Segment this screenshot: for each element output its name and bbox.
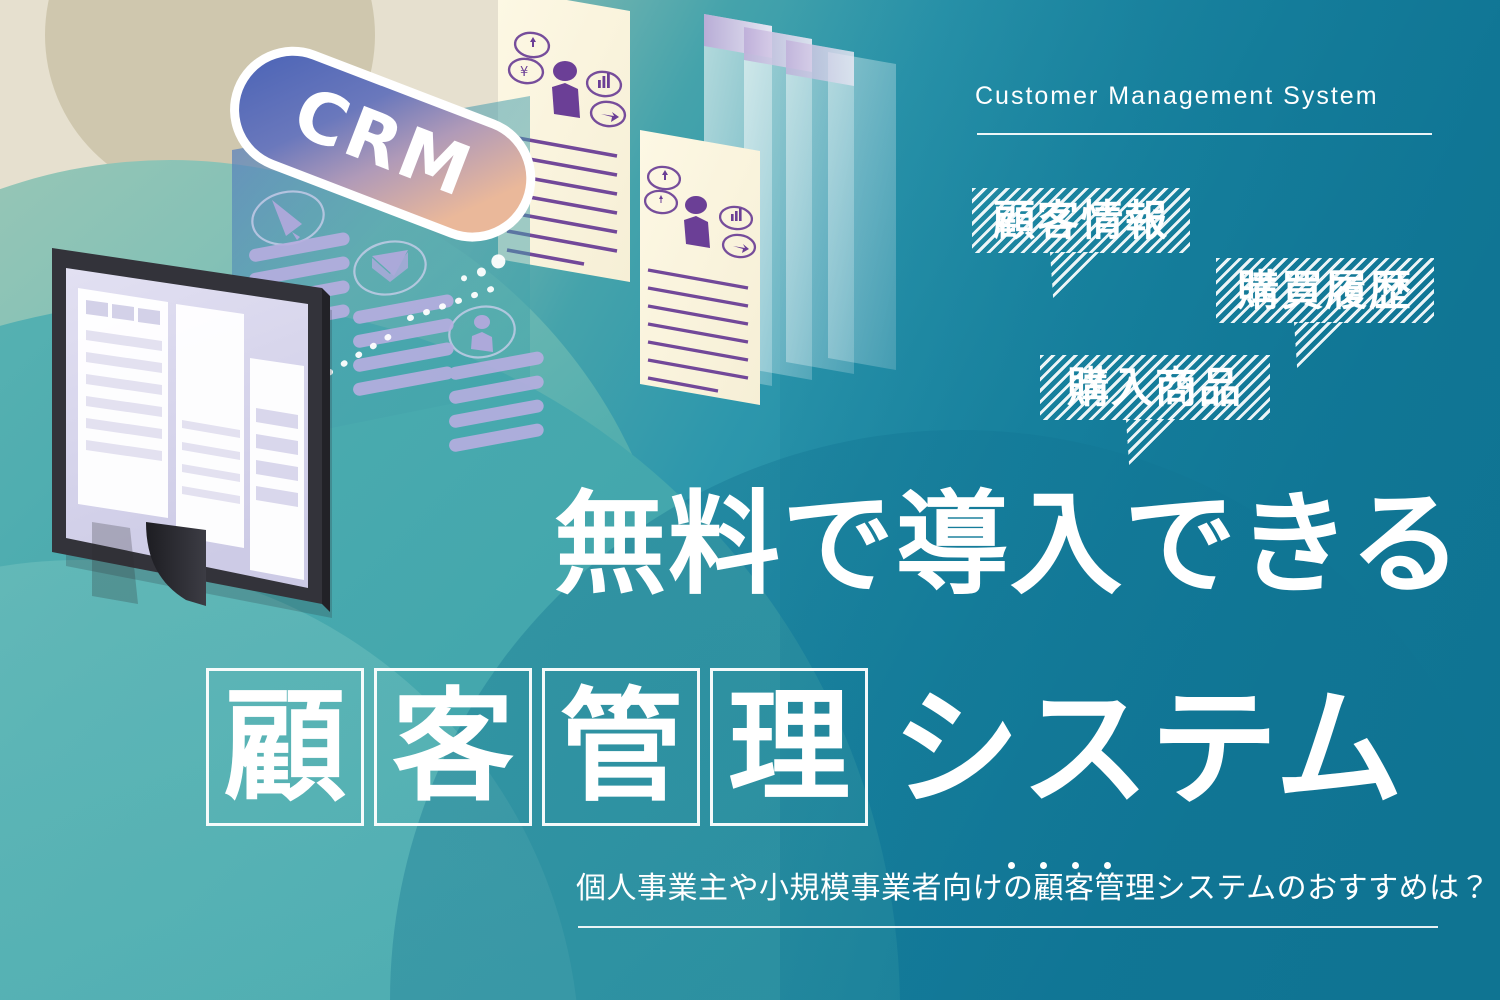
subtitle-wrap: 個人事業主や小規模事業者向けの顧客管理システムのおすすめは？ [576, 874, 1438, 904]
boxed-char: 客 [374, 668, 532, 826]
boxed-char: 理 [710, 668, 868, 826]
bubble-label: 購入商品 [1067, 367, 1243, 409]
boxed-char: 管 [542, 668, 700, 826]
emphasis-dot [1008, 862, 1015, 869]
screen-center-panel [176, 304, 244, 548]
bubble-purchase-history: 購買履歴 [1216, 258, 1434, 323]
headline-line-1: 無料で導入できる [554, 489, 1464, 601]
emphasis-dot [1072, 862, 1079, 869]
hero-banner: ¥ [0, 0, 1500, 1000]
screen-left-panel [78, 288, 168, 518]
boxed-char: 顧 [206, 668, 364, 826]
subtitle-underline [578, 926, 1438, 928]
document-card-front-b [640, 130, 760, 405]
bubble-label: 顧客情報 [993, 200, 1169, 242]
emphasis-dots [1008, 862, 1111, 869]
desktop-monitor [52, 248, 332, 618]
emphasis-dot [1104, 862, 1111, 869]
bubble-purchased-products: 購入商品 [1040, 355, 1270, 420]
eyebrow-underline [977, 133, 1432, 135]
screen-right-panel [250, 358, 304, 580]
subtitle-text: 個人事業主や小規模事業者向けの顧客管理システムのおすすめは？ [576, 874, 1438, 904]
headline-line-2: 顧 客 管 理 システム [206, 668, 1404, 826]
bubble-label: 購買履歴 [1237, 270, 1413, 312]
svg-text:¥: ¥ [520, 65, 528, 80]
headline-kana-suffix: システム [892, 686, 1404, 814]
eyebrow-text: Customer Management System [975, 82, 1435, 111]
emphasis-dot [1040, 862, 1047, 869]
bubble-customer-info: 顧客情報 [972, 188, 1190, 253]
